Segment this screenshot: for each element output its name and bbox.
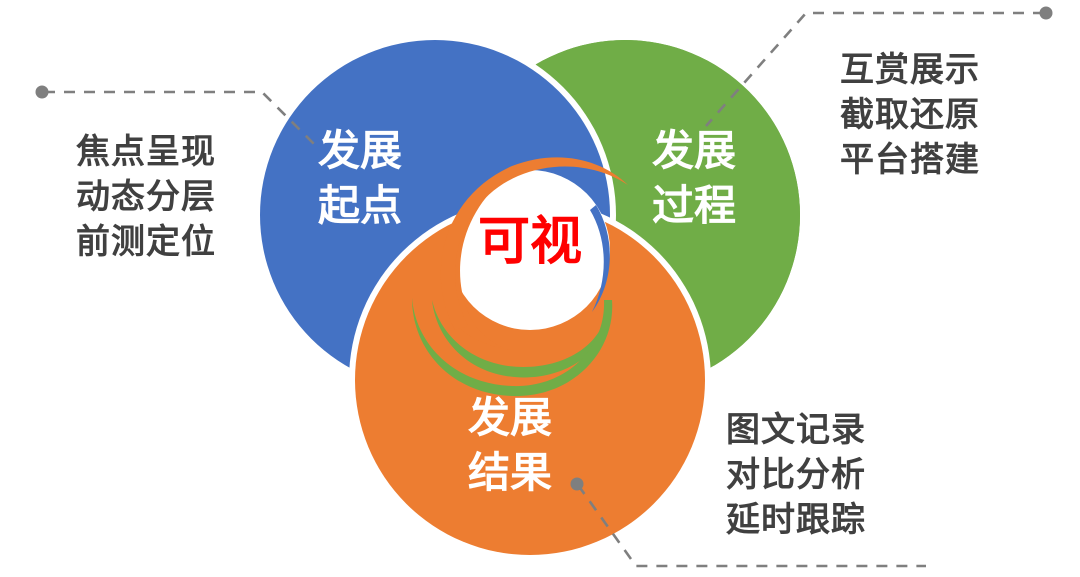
- callout-left-line2: 动态分层: [76, 175, 216, 220]
- callout-bottom-right-line1: 图文记录: [726, 408, 866, 453]
- callout-top-right-line1: 互赏展示: [840, 48, 980, 93]
- leader-dot-left: [36, 86, 49, 99]
- leader-dot-topright: [1040, 7, 1053, 20]
- callout-left-line3: 前测定位: [76, 220, 216, 265]
- callout-left: 焦点呈现 动态分层 前测定位: [76, 130, 216, 265]
- callout-top-right-line2: 截取还原: [840, 93, 980, 138]
- callout-bottom-right: 图文记录 对比分析 延时跟踪: [726, 408, 866, 543]
- leader-dot-bottomright: [571, 478, 584, 491]
- callout-top-right: 互赏展示 截取还原 平台搭建: [840, 48, 980, 183]
- diagram-canvas: 发展 起点 发展 过程 发展 结果 可视 焦点呈现 动态分层 前测定位 互赏展示…: [0, 0, 1080, 577]
- callout-left-line1: 焦点呈现: [76, 130, 216, 175]
- callout-bottom-right-line3: 延时跟踪: [726, 498, 866, 543]
- callout-top-right-line3: 平台搭建: [840, 138, 980, 183]
- ring-shapes: [254, 34, 800, 561]
- callout-bottom-right-line2: 对比分析: [726, 453, 866, 498]
